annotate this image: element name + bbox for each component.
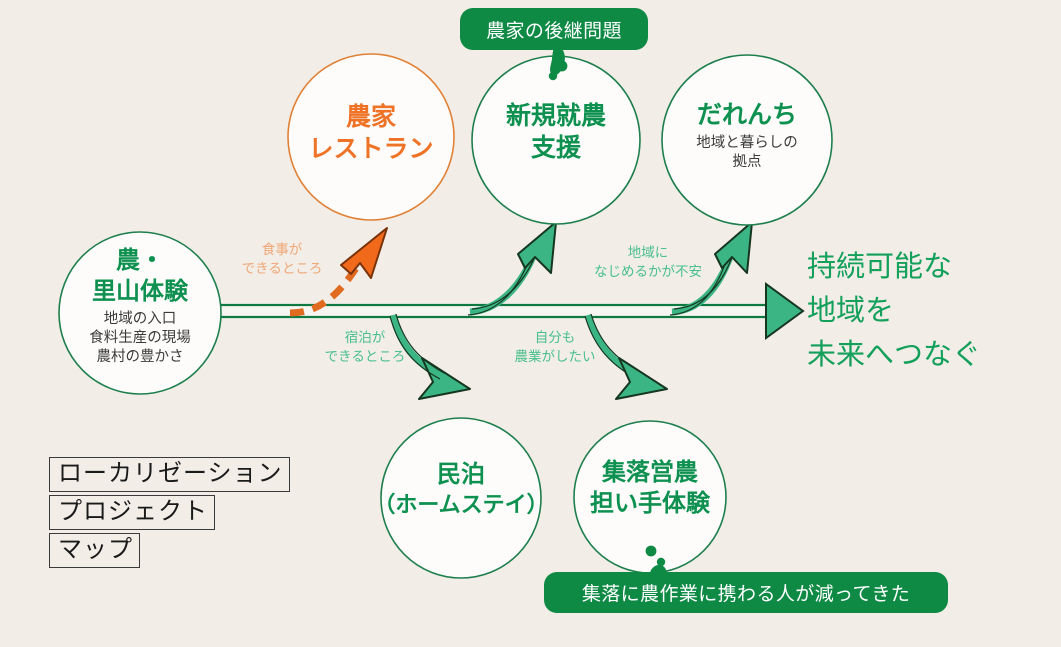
legend-line3-text: マップ [58, 538, 133, 562]
branch-arrow-restaurant [290, 228, 387, 313]
node-circle-source[interactable] [59, 232, 221, 394]
branch-arrow-darenchi [670, 222, 752, 315]
legend-box-line3[interactable]: マップ [49, 533, 140, 568]
legend-box-line2[interactable]: プロジェクト [49, 495, 215, 530]
legend-line2-text: プロジェクト [58, 500, 208, 524]
node-circle-newfarmer[interactable] [472, 56, 640, 224]
outcome-line3: 未来へつなぐ [807, 333, 981, 377]
node-circle-restaurant[interactable] [288, 54, 454, 220]
branch-arrow-minpaku [390, 314, 470, 399]
outcome-line2: 地域を [807, 289, 981, 333]
bubble-labor[interactable]: 集落に農作業に携わる人が減ってきた [544, 572, 948, 613]
outcome-text: 持続可能な 地域を 未来へつなぐ [807, 245, 981, 377]
legend-line1-text: ローカリゼーション [58, 462, 283, 486]
bubble-labor-text: 集落に農作業に携わる人が減ってきた [582, 579, 910, 606]
diagram-canvas: 農・ 里山体験 地域の入口 食料生産の現場 農村の豊かさ 農家 レストラン 新規… [0, 0, 1061, 647]
bubble-successor-text: 農家の後継問題 [486, 16, 622, 43]
branch-arrow-newfarmer [468, 222, 556, 315]
legend-box-line1[interactable]: ローカリゼーション [49, 457, 290, 492]
node-circle-minpaku[interactable] [381, 418, 541, 578]
outcome-line1: 持続可能な [807, 245, 981, 289]
bubble-successor[interactable]: 農家の後継問題 [460, 8, 648, 50]
node-circle-darenchi[interactable] [662, 55, 832, 225]
branch-arrow-shuraku [585, 314, 667, 399]
